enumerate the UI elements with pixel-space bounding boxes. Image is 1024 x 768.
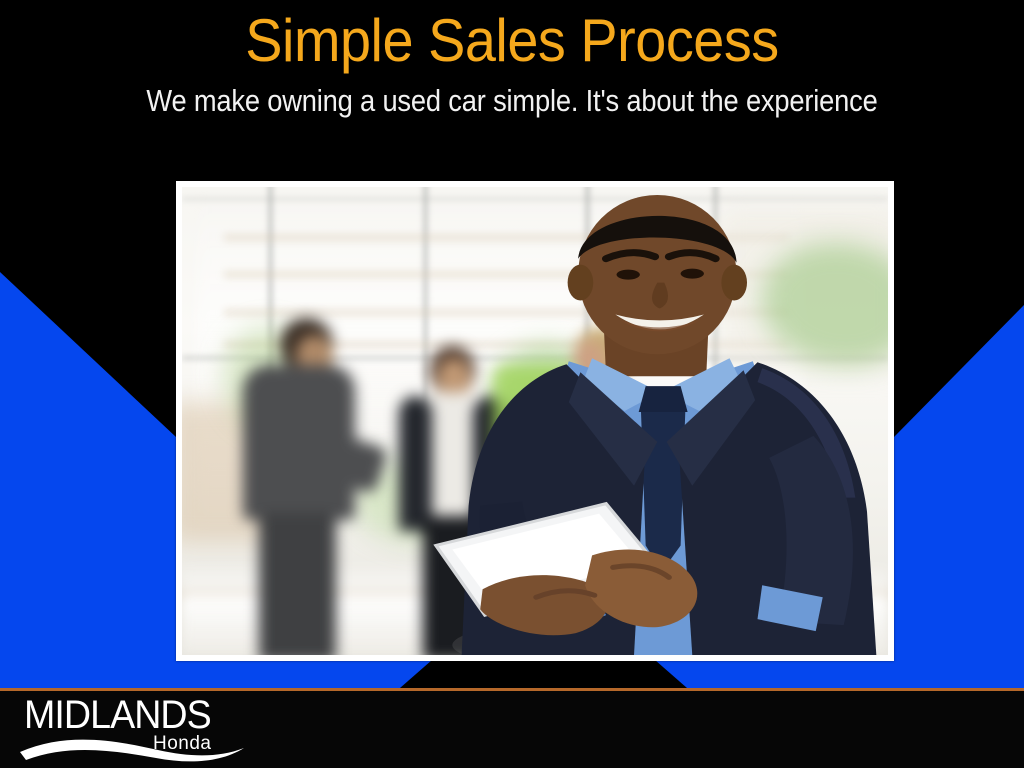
blazer-left: [399, 396, 433, 532]
ear-left: [568, 265, 594, 301]
footer-bar: MIDLANDS Honda Sales (844) 805-1973 See …: [0, 688, 1024, 768]
blue-wedge-left: [0, 272, 176, 660]
promo-banner: Simple Sales Process We make owning a us…: [0, 0, 1024, 768]
ear-right: [721, 265, 747, 301]
eye-right: [681, 269, 704, 279]
blue-band-right: [655, 660, 1024, 688]
blue-band-left: [0, 660, 432, 688]
background-person-grey-suit: [224, 318, 379, 655]
logo-swoosh-icon: [18, 730, 248, 764]
midlands-honda-logo[interactable]: MIDLANDS Honda: [18, 694, 248, 762]
necktie-knot: [639, 386, 688, 412]
eye-left: [617, 270, 640, 280]
foreground-businessman: [429, 187, 888, 655]
footer-accent-line: [0, 688, 1024, 691]
headline-block: Simple Sales Process We make owning a us…: [0, 0, 1024, 150]
legs: [259, 513, 337, 655]
blue-wedge-right: [894, 305, 1024, 660]
page-subtitle: We make owning a used car simple. It's a…: [61, 83, 962, 119]
page-title: Simple Sales Process: [36, 8, 988, 74]
hero-photo: [182, 187, 888, 655]
businessman-figure: [429, 187, 888, 655]
hero-photo-frame: [176, 181, 894, 661]
